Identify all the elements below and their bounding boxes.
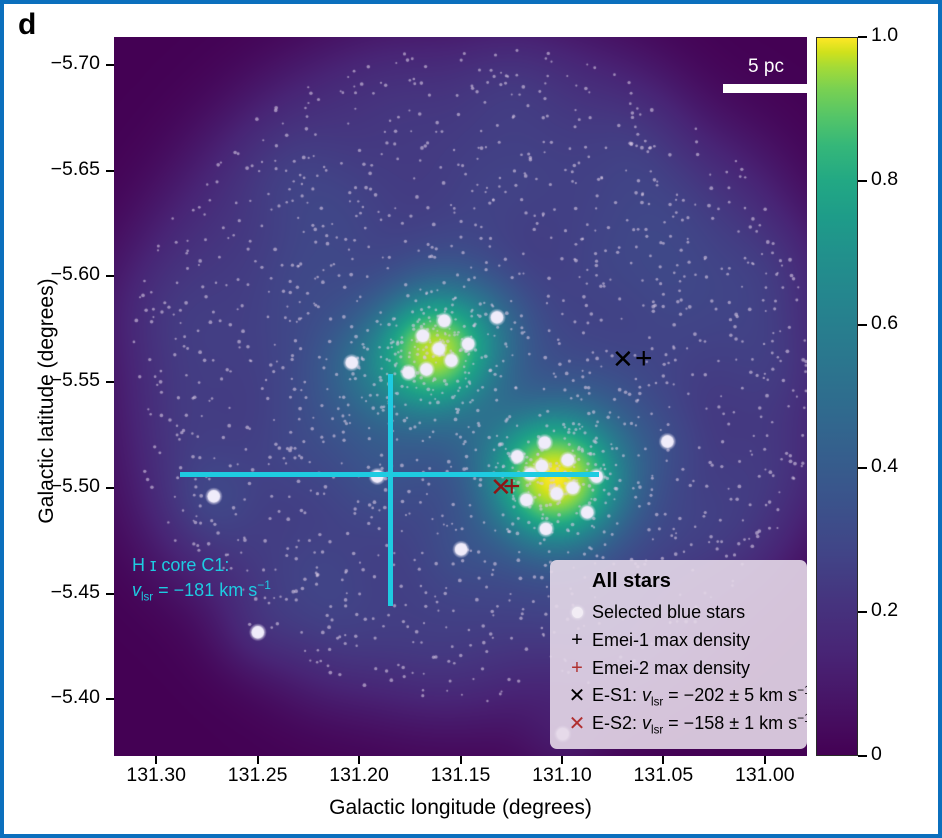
y-axis-title: Galactic latitude (degrees) <box>35 201 59 601</box>
legend-item-es1-velocity: ✕ E-S1: vlsr = −202 ± 5 km s−1 <box>562 682 795 710</box>
legend-title: All stars <box>592 570 795 593</box>
y-tick-mark <box>106 275 114 277</box>
y-tick-label: −5.40 <box>4 686 100 709</box>
colorbar-tick-label: 0.2 <box>871 599 898 622</box>
cross-icon: ✕ <box>562 714 592 734</box>
legend-item-emei1-max-density: + Emei-1 max density <box>562 626 795 654</box>
hi-core-crosshair-horizontal <box>180 472 599 477</box>
colorbar-tick-label: 1.0 <box>871 24 898 47</box>
colorbar-tick-mark <box>858 611 867 613</box>
y-tick-label: −5.70 <box>4 52 100 75</box>
hi-core-annotation: H ɪ core C1: vlsr = −181 km s−1 <box>132 554 271 606</box>
emei1-es1-cross-marker: ✕ <box>612 346 634 372</box>
scatter-density-plot: 5 pc H ɪ core C1: vlsr = −181 km s−1 ✕ +… <box>114 37 807 756</box>
colorbar-tick-mark <box>858 467 867 469</box>
hi-core-line1: H ɪ core C1: <box>132 555 229 575</box>
x-axis-title: Galactic longitude (degrees) <box>114 796 807 820</box>
colorbar-tick-label: 0.6 <box>871 312 898 335</box>
y-tick-mark <box>106 170 114 172</box>
legend-item-emei2-max-density: + Emei-2 max density <box>562 654 795 682</box>
y-tick-label: −5.65 <box>4 158 100 181</box>
scale-bar: 5 pc <box>686 57 807 93</box>
x-tick-mark <box>257 756 259 764</box>
colorbar-tick-label: 0.4 <box>871 455 898 478</box>
figure-panel-d: d 5 pc H ɪ core C1: vlsr = −181 km s−1 ✕… <box>0 0 942 838</box>
colorbar-tick-mark <box>858 324 867 326</box>
legend-item-label: E-S2: vlsr = −158 ± 1 km s−1 <box>592 711 807 737</box>
plus-icon: + <box>562 630 592 650</box>
cross-icon: ✕ <box>562 686 592 706</box>
emei2-max-density-marker: + <box>503 472 521 502</box>
colorbar <box>816 37 858 756</box>
scale-bar-label: 5 pc <box>686 57 807 78</box>
legend-item-label: Emei-2 max density <box>592 658 750 679</box>
emei1-max-density-marker: + <box>635 344 653 374</box>
y-tick-mark <box>106 487 114 489</box>
panel-label: d <box>18 10 36 40</box>
hi-core-vlsr-symbol: v <box>132 580 141 600</box>
legend-item-selected-blue-stars: Selected blue stars <box>562 598 795 626</box>
hi-core-line2-exponent: −1 <box>257 578 271 592</box>
x-tick-mark <box>155 756 157 764</box>
colorbar-tick-label: 0.8 <box>871 168 898 191</box>
y-tick-mark <box>106 64 114 66</box>
hi-core-vlsr-subscript: lsr <box>141 591 153 603</box>
legend-item-label: Selected blue stars <box>592 602 745 623</box>
hi-core-crosshair-vertical <box>388 374 393 606</box>
legend-box: All stars Selected blue stars + Emei-1 m… <box>550 560 807 749</box>
colorbar-tick-mark <box>858 36 867 38</box>
x-tick-mark <box>764 756 766 764</box>
x-tick-mark <box>561 756 563 764</box>
selected-blue-star-icon <box>562 602 592 622</box>
x-tick-mark <box>460 756 462 764</box>
colorbar-tick-label: 0 <box>871 743 882 766</box>
legend-item-label: E-S1: vlsr = −202 ± 5 km s−1 <box>592 683 807 709</box>
x-tick-label: 131.00 <box>705 764 825 787</box>
plus-icon: + <box>562 658 592 678</box>
scale-bar-rule <box>723 84 807 93</box>
y-tick-mark <box>106 593 114 595</box>
y-tick-mark <box>106 698 114 700</box>
hi-core-line2-value: = −181 km s <box>153 580 257 600</box>
x-tick-mark <box>358 756 360 764</box>
colorbar-tick-mark <box>858 755 867 757</box>
legend-item-label: Emei-1 max density <box>592 630 750 651</box>
colorbar-tick-mark <box>858 180 867 182</box>
legend-item-es2-velocity: ✕ E-S2: vlsr = −158 ± 1 km s−1 <box>562 710 795 738</box>
y-tick-mark <box>106 381 114 383</box>
x-tick-mark <box>662 756 664 764</box>
